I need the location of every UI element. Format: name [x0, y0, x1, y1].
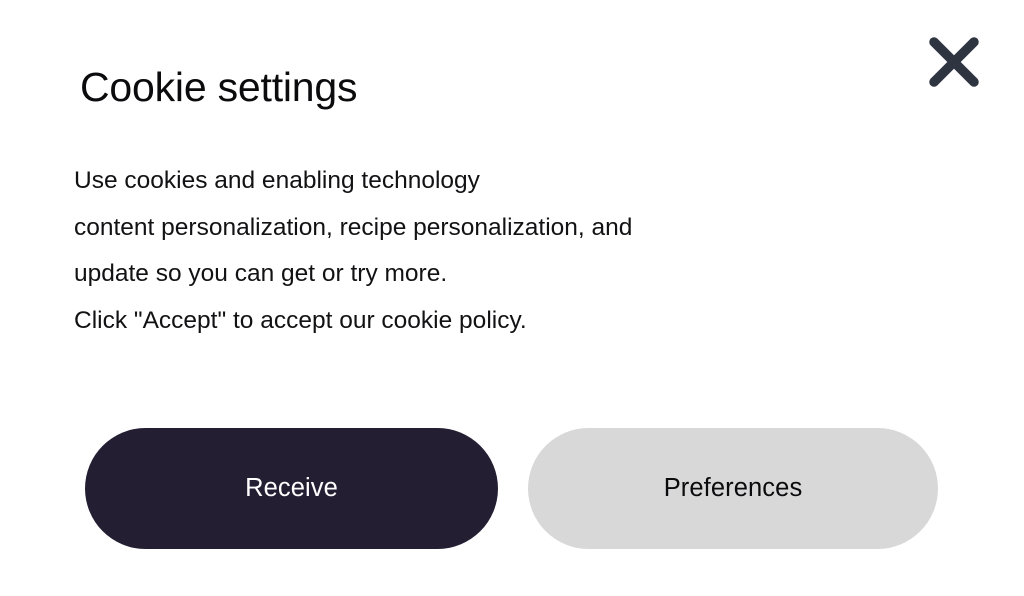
- description-line: Click "Accept" to accept our cookie poli…: [74, 298, 874, 345]
- preferences-button[interactable]: Preferences: [528, 428, 938, 549]
- cookie-settings-dialog: Cookie settings Use cookies and enabling…: [0, 0, 1024, 596]
- description-line: content personalization, recipe personal…: [74, 205, 874, 252]
- description-line: update so you can get or try more.: [74, 251, 874, 298]
- description-line: Use cookies and enabling technology: [74, 158, 874, 205]
- page-title: Cookie settings: [80, 64, 357, 111]
- close-icon: [928, 36, 980, 88]
- accept-button[interactable]: Receive: [85, 428, 498, 549]
- dialog-description: Use cookies and enabling technology cont…: [74, 158, 874, 344]
- close-button[interactable]: [922, 30, 986, 94]
